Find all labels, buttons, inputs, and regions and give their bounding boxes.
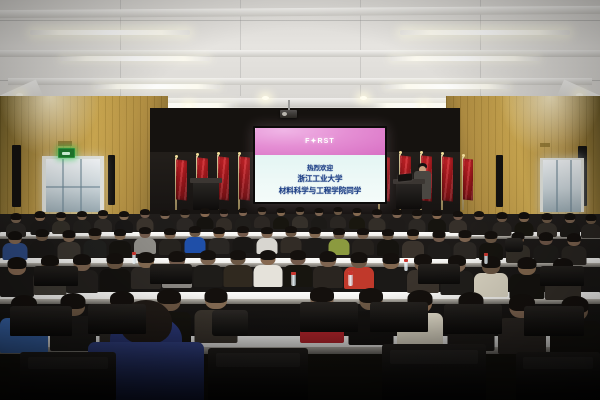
audience-member [388,210,405,231]
water-bottle [404,259,408,271]
audience-member [0,258,34,296]
projection-screen: F✦RST 热烈欢迎 浙江工业大学 材料科学与工程学院同学 [255,128,385,202]
audience-member-hair [164,228,176,235]
audience-member-body [193,265,222,287]
audience-member-hair [239,208,248,213]
audience-member-hair [204,288,227,303]
audience-member-hair [333,228,345,235]
chair-row-3[interactable] [88,304,146,334]
lectern-top [190,178,222,183]
audience-member-hair [285,226,297,233]
water-bottle [132,252,136,264]
audience-member-hair [432,210,442,216]
lecture-hall-photo: F✦RST 热烈欢迎 浙江工业大学 材料科学与工程学院同学 [0,0,600,400]
right-doorway[interactable] [543,160,581,212]
audience-member [368,210,385,230]
ceiling-downlight [262,96,269,100]
audience-member [83,229,106,256]
water-bottle [348,271,353,286]
audience-member-hair [357,228,369,235]
lectern-right [396,181,422,209]
first-logo-text: F✦RST [305,138,335,145]
water-bottle [291,272,296,286]
audience-member-hair [382,229,394,236]
slide-line-2: 浙江工业大学 [255,173,385,184]
audience-member-hair [8,231,22,240]
audience-member-hair [98,210,108,216]
audience-member [292,208,308,228]
audience-member-body [223,265,252,287]
audience-member-body [0,273,34,297]
backpack-on-desk [212,310,248,336]
audience-member [311,209,327,229]
audience-member [280,227,301,252]
audience-member-hair [296,207,305,212]
backpack-on-desk [505,238,523,252]
audience-member [30,230,54,258]
red-flag [463,158,473,200]
ceiling-strip-light [60,56,210,61]
audience-member-hair [160,210,170,216]
audience-member [509,258,544,298]
ceiling-strip-light [400,30,570,35]
chair-foreground[interactable] [208,348,308,400]
audience-member-hair [34,211,45,218]
audience-member-hair [290,250,306,260]
laptop-on-lectern [398,173,412,181]
audience-member-hair [220,209,229,214]
audience-member [223,251,252,286]
audience-member-hair [200,208,210,214]
audience-member-hair [77,211,87,217]
wall-speaker-right [496,155,503,207]
red-flag [176,159,187,200]
audience-member-hair [517,257,536,269]
audience-member [283,251,312,286]
audience-member-hair [200,250,216,260]
audience-member-hair [310,287,334,302]
chair-row-2[interactable] [150,264,192,284]
audience-member-hair [189,226,201,233]
audience-member [193,251,222,286]
ceiling-downlight [360,96,367,100]
chair-row-3[interactable] [444,304,502,334]
audience-member-hair [11,213,22,220]
chair-foreground[interactable] [516,352,600,400]
audience-member [99,254,130,291]
audience-member-hair [260,250,276,260]
slide-body-band: 热烈欢迎 浙江工业大学 材料科学与工程学院同学 [255,155,385,202]
audience-member-hair [237,226,249,233]
audience-member-hair [8,257,27,269]
slide-line-3: 材料科学与工程学院同学 [255,185,385,196]
audience-member-hair [518,212,529,219]
water-bottle [484,253,488,264]
bottle-cap [132,252,136,255]
audience-member-hair [392,209,402,215]
audience-member-hair [169,251,186,262]
audience-member-hair [62,230,75,238]
sign-plate [540,143,550,147]
audience-member [253,251,282,286]
bottle-cap [291,272,296,275]
wall-speaker-left [12,145,21,207]
audience-member [330,208,346,228]
audience-member-hair [73,254,91,265]
audience-member-hair [458,230,471,238]
chair-row-2[interactable] [34,266,78,286]
audience-member-body [253,265,282,287]
audience-member-hair [315,208,324,213]
audience-member [352,229,374,255]
audience-member-hair [180,209,190,215]
bottle-cap [404,259,408,262]
red-flag [442,156,453,201]
chair-foreground[interactable] [20,352,116,400]
first-logo: F✦RST [255,137,385,145]
audience-member-hair [138,252,155,263]
audience-member [254,208,270,228]
audience-member-hair [407,229,419,236]
audience-member [402,230,424,257]
audience-member [313,252,343,288]
audience-member [304,228,325,253]
exit-sign [58,148,75,158]
audience-member-hair [230,250,246,260]
audience-member [232,227,253,252]
audience-member-body [330,216,346,228]
audience-member-hair [351,252,368,263]
audience-member-hair [261,227,273,234]
audience-member-hair [353,208,362,213]
chair-row-3[interactable] [524,306,584,336]
audience-member [184,227,205,253]
bottle-cap [484,253,488,256]
lectern-left [193,180,219,210]
audience-member-hair [412,210,422,216]
audience-member-hair [114,229,126,236]
audience-member-hair [382,253,399,264]
ceiling-strip-light [30,30,190,35]
audience-member-hair [88,228,101,236]
chair-foreground[interactable] [382,344,486,400]
audience-member-hair [485,231,498,239]
slide-line-1: 热烈欢迎 [255,162,385,172]
ceiling-projector [280,110,297,118]
ceiling-soffit [0,6,600,18]
audience-member-hair [567,233,581,242]
chair-row-3[interactable] [10,306,72,336]
audience-member [427,231,450,258]
audience-member [428,211,446,232]
audience-member-hair [474,211,484,217]
audience-member [2,232,27,260]
slide-header-band: F✦RST [255,128,385,155]
chair-row-2[interactable] [418,264,460,284]
audience-member-body [283,265,312,287]
audience-member-hair [258,207,267,212]
audience-member-hair [106,253,123,264]
audience-member-hair [213,227,225,234]
audience-member [134,228,156,254]
ceiling-strip-light [95,84,220,89]
audience-member-hair [36,229,49,237]
audience-member-hair [309,227,321,234]
ceiling-strip-light [390,56,540,61]
audience-member-hair [140,209,150,215]
chair-row-3[interactable] [300,302,358,332]
chair-row-3[interactable] [370,302,428,332]
wall-speaker-left-2 [108,155,115,205]
audience-member-hair [565,213,576,220]
audience-member-hair [139,227,151,234]
chair-row-2[interactable] [540,266,584,286]
audience-member-body [99,269,130,292]
audience-member-hair [539,232,553,241]
bottle-cap [348,271,353,275]
ceiling-strip-light [385,84,510,89]
audience-member-hair [119,211,129,217]
audience-member-hair [56,212,66,218]
audience-member-hair [496,212,507,219]
audience-member-body [313,266,343,288]
audience-member [375,254,406,291]
audience-member-hair [277,208,286,213]
audience-member-hair [359,288,383,303]
red-flag [239,156,250,200]
audience-member-hair [586,214,597,221]
audience-member-hair [41,255,59,266]
audience-member-hair [432,230,445,238]
sign-plate [58,141,72,146]
audience-member-hair [372,209,382,215]
audience-member-hair [320,251,337,262]
audience-member-hair [334,207,343,212]
audience-member [349,209,365,229]
audience-member-hair [453,211,463,217]
audience-member-hair [542,213,553,220]
audience-member [474,257,508,296]
